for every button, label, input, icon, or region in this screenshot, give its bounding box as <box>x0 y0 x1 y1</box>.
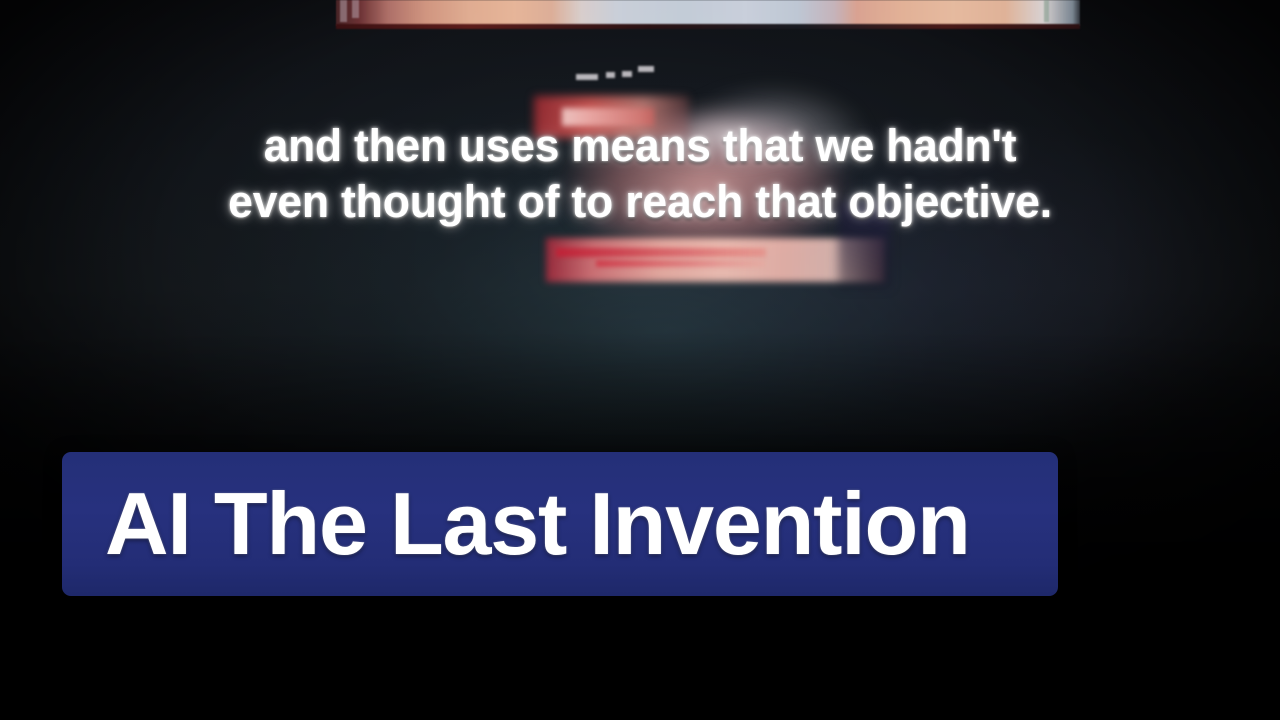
glitch-strip-tick <box>352 0 359 18</box>
glitch-dash-mark <box>576 74 598 80</box>
glitch-strip-tick <box>1044 0 1049 22</box>
glitch-dash-mark <box>606 72 615 78</box>
glitch-top-strip <box>336 0 1080 26</box>
caption-line-2: even thought of to reach that objective. <box>6 174 1273 230</box>
caption-text: and then uses means that we hadn't even … <box>0 118 1280 230</box>
caption-line-1: and then uses means that we hadn't <box>10 118 1271 174</box>
glitch-blob-band-streak <box>556 248 766 257</box>
glitch-dash-mark <box>622 71 632 77</box>
glitch-dash-mark <box>638 66 654 72</box>
glitch-strip-tick <box>340 0 347 22</box>
title-banner: AI The Last Invention <box>62 452 1058 596</box>
glitch-blob-band-streak <box>596 260 766 267</box>
glitch-top-strip-shadow <box>336 24 1080 29</box>
title-banner-text: AI The Last Invention <box>62 476 970 572</box>
video-frame: and then uses means that we hadn't even … <box>0 0 1280 720</box>
